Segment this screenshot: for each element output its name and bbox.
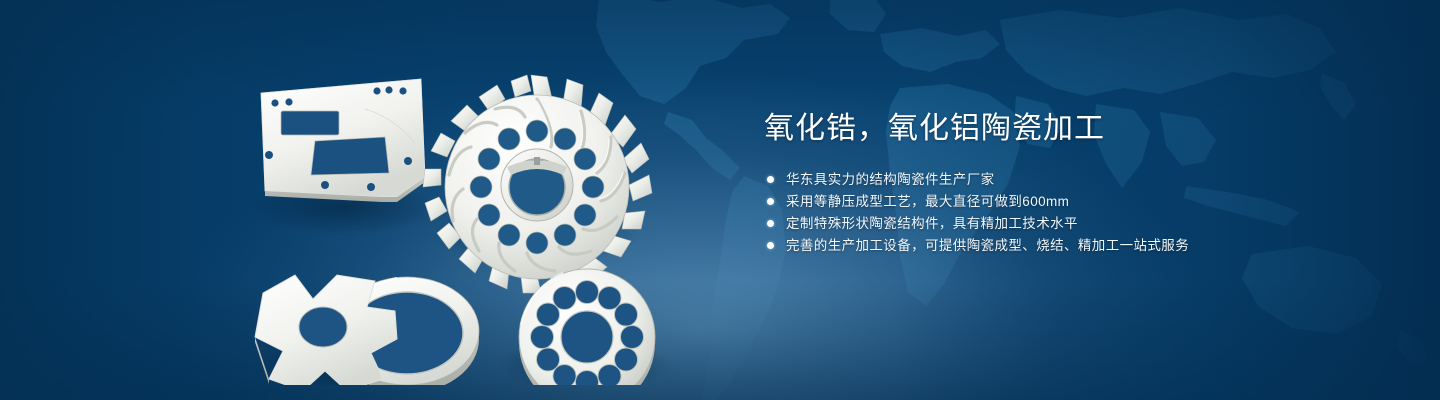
feature-list: 华东具实力的结构陶瓷件生产厂家 采用等静压成型工艺，最大直径可做到600mm 定… bbox=[764, 172, 1384, 253]
ceramic-flat-plate bbox=[261, 79, 425, 202]
page-title: 氧化锆，氧化铝陶瓷加工 bbox=[764, 108, 1384, 150]
list-item-label: 完善的生产加工设备，可提供陶瓷成型、烧结、精加工一站式服务 bbox=[786, 238, 1189, 253]
list-item: 华东具实力的结构陶瓷件生产厂家 bbox=[764, 172, 1384, 187]
ceramic-products-image bbox=[225, 35, 715, 385]
list-item-label: 采用等静压成型工艺，最大直径可做到600mm bbox=[786, 194, 1069, 209]
list-item-label: 定制特殊形状陶瓷结构件，具有精加工技术水平 bbox=[786, 216, 1078, 231]
bullet-dot-icon bbox=[767, 242, 774, 249]
bullet-dot-icon bbox=[767, 220, 774, 227]
list-item: 定制特殊形状陶瓷结构件，具有精加工技术水平 bbox=[764, 216, 1384, 231]
ceramic-processing-banner: 氧化锆，氧化铝陶瓷加工 华东具实力的结构陶瓷件生产厂家 采用等静压成型工艺，最大… bbox=[0, 0, 1440, 400]
list-item: 完善的生产加工设备，可提供陶瓷成型、烧结、精加工一站式服务 bbox=[764, 238, 1384, 253]
list-item: 采用等静压成型工艺，最大直径可做到600mm bbox=[764, 194, 1384, 209]
list-item-label: 华东具实力的结构陶瓷件生产厂家 bbox=[786, 172, 995, 187]
bullet-dot-icon bbox=[767, 176, 774, 183]
banner-copy: 氧化锆，氧化铝陶瓷加工 华东具实力的结构陶瓷件生产厂家 采用等静压成型工艺，最大… bbox=[764, 108, 1384, 253]
bullet-dot-icon bbox=[767, 198, 774, 205]
ceramic-impeller bbox=[423, 75, 652, 293]
